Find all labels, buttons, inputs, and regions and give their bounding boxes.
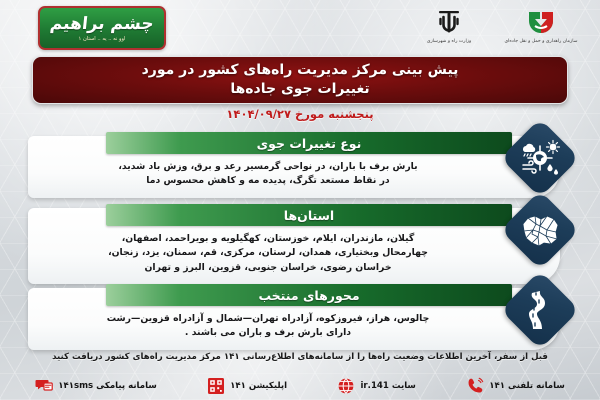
title-line-1: پیش بینی مرکز مدیریت راه‌های کشور در مور… [142,61,459,80]
globe-icon [337,377,355,395]
section-provinces: استان‌ها گیلان، مازندران، ایلام، خوزستان… [28,208,560,284]
contact-sms-label: سامانه پیامکی ۱۴۱sms [58,381,157,391]
contact-phone-141[interactable]: سامانه تلفنی ۱۴۱ [466,377,565,395]
rahdari-organization-logo: سازمان راهداری و حمل و نقل جاده‌ای [504,7,578,45]
selected-routes-body: چالوس، هراز، فیروزکوه، آزادراه تهران—شما… [44,312,496,341]
poster-header: چشم براهیم اوو نه .. یه .. استان ۱ سازما… [0,0,600,56]
contact-website-141[interactable]: سایت 141.ir [337,377,415,395]
provinces-line-2: چهارمحال وبختیاری، همدان، لرستان، مرکزی،… [44,246,492,260]
brand-subtitle: اوو نه .. یه .. استان ۱ [79,36,126,42]
footer-advisory-note: قبل از سفر، آخرین اطلاعات وضعیت راه‌ها ر… [0,352,600,362]
cheshm-be-rah-logo: چشم براهیم اوو نه .. یه .. استان ۱ [38,6,166,50]
weather-type-body: بارش برف با باران، در نواحی گرمسیر رعد و… [44,160,496,189]
weather-type-heading: نوع تغییرات جوی [257,136,362,151]
weather-type-card: نوع تغییرات جوی [28,136,560,198]
iran-emblem-icon [435,7,463,37]
brand-calligraphy: چشم براهیم [49,14,155,34]
section-weather-type: نوع تغییرات جوی [28,136,560,198]
phone-icon [466,377,484,395]
iran-map-icon [517,207,563,253]
contact-phone-label: سامانه تلفنی ۱۴۱ [489,381,565,391]
selected-routes-line-2: دارای بارش برف و باران می باشند . [44,326,492,340]
provinces-heading: استان‌ها [284,208,334,223]
selected-routes-ribbon: محورهای منتخب [106,284,512,306]
contact-app-141[interactable]: اپلیکیشن ۱۴۱ [207,377,287,395]
publication-date: پنجشنبه مورخ ۱۴۰۴/۰۹/۲۷ [0,107,600,121]
contact-sms-141[interactable]: سامانه پیامکی ۱۴۱sms [35,377,157,395]
provinces-card: استان‌ها گیلان، مازندران، ایلام، خوزستان… [28,208,560,284]
iran-emblem-logo: وزارت راه و شهرسازی [412,7,486,45]
title-line-2: تغییرات جوی جاده‌ها [230,80,369,99]
weather-mixed-icon [517,135,563,181]
organization-logos: سازمان راهداری و حمل و نقل جاده‌ای وزارت… [412,7,578,45]
provinces-ribbon: استان‌ها [106,204,512,226]
section-selected-routes: محورهای منتخب چالوس، هراز، فیروزکوه، آزا… [28,288,560,350]
selected-routes-heading: محورهای منتخب [258,288,359,303]
selected-routes-card: محورهای منتخب چالوس، هراز، فیروزکوه، آزا… [28,288,560,350]
contact-website-label: سایت 141.ir [360,381,415,391]
contact-app-label: اپلیکیشن ۱۴۱ [230,381,287,391]
provinces-badge [500,190,579,269]
provinces-line-3: خراسان رضوی، خراسان جنوبی، قزوین، البرز … [44,261,492,275]
weather-type-line-2: در نقاط مستعد تگرگ، پدیده مه و کاهش محسو… [44,174,492,188]
contact-channels-bar: سامانه تلفنی ۱۴۱ سایت 141.ir اپلیکیشن ۱۴… [10,374,590,398]
sms-icon [35,377,53,395]
qr-app-icon [207,377,225,395]
infographic-poster: چشم براهیم اوو نه .. یه .. استان ۱ سازما… [0,0,600,400]
weather-type-line-1: بارش برف با باران، در نواحی گرمسیر رعد و… [44,160,492,174]
provinces-body: گیلان، مازندران، ایلام، خوزستان، کهگیلوی… [44,232,496,275]
weather-type-badge [500,118,579,197]
provinces-line-1: گیلان، مازندران، ایلام، خوزستان، کهگیلوی… [44,232,492,246]
title-banner: پیش بینی مرکز مدیریت راه‌های کشور در مور… [32,56,568,104]
winding-road-icon [517,287,563,333]
weather-type-ribbon: نوع تغییرات جوی [106,132,512,154]
rahdari-arrow-icon [526,7,556,37]
selected-routes-line-1: چالوس، هراز، فیروزکوه، آزادراه تهران—شما… [44,312,492,326]
rahdari-logo-caption: سازمان راهداری و حمل و نقل جاده‌ای [505,39,578,45]
iran-emblem-caption: وزارت راه و شهرسازی [427,39,471,45]
